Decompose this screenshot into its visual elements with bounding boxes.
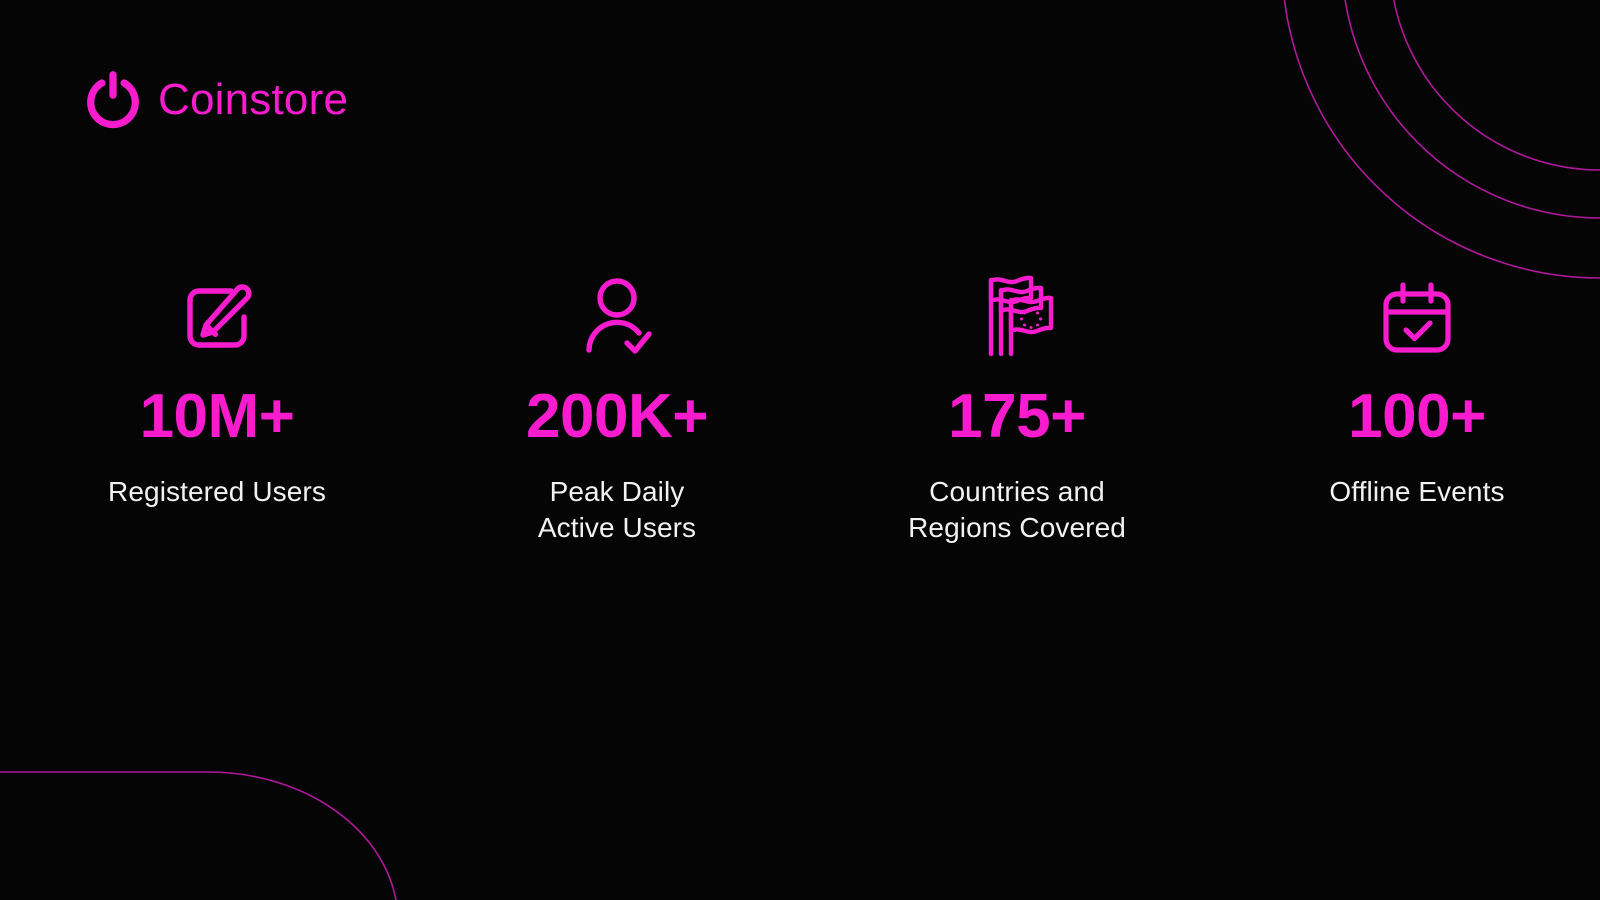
stat-card-offline-events: 100+ Offline Events	[1234, 270, 1600, 547]
stat-card-peak-daily-active-users: 200K+ Peak Daily Active Users	[434, 270, 800, 547]
brand-logo[interactable]: Coinstore	[82, 68, 348, 130]
stat-value: 100+	[1348, 386, 1486, 448]
stat-value: 200K+	[526, 386, 708, 448]
stat-value: 10M+	[140, 386, 295, 448]
stat-value: 175+	[948, 386, 1086, 448]
brand-name: Coinstore	[158, 78, 348, 122]
flags-icon	[970, 268, 1064, 362]
power-icon	[82, 68, 144, 130]
stat-icon-wrap	[571, 270, 663, 362]
stat-icon-wrap	[1373, 270, 1461, 362]
stat-label: Offline Events	[1329, 474, 1504, 510]
user-check-icon	[571, 270, 663, 362]
bottom-left-curve-icon	[0, 772, 398, 900]
stat-icon-wrap	[970, 270, 1064, 362]
stat-card-countries-regions: 175+ Countries and Regions Covered	[834, 270, 1200, 547]
stat-label: Peak Daily Active Users	[538, 474, 696, 547]
stat-label: Registered Users	[108, 474, 326, 510]
stats-strip: 10M+ Registered Users 200K+ Peak Daily A…	[0, 270, 1600, 547]
stat-icon-wrap	[173, 270, 261, 362]
stat-label: Countries and Regions Covered	[908, 474, 1126, 547]
stat-card-registered-users: 10M+ Registered Users	[34, 270, 400, 547]
top-right-arcs-icon	[1282, 0, 1600, 278]
edit-square-pencil-icon	[173, 274, 261, 362]
calendar-check-icon	[1373, 274, 1461, 362]
